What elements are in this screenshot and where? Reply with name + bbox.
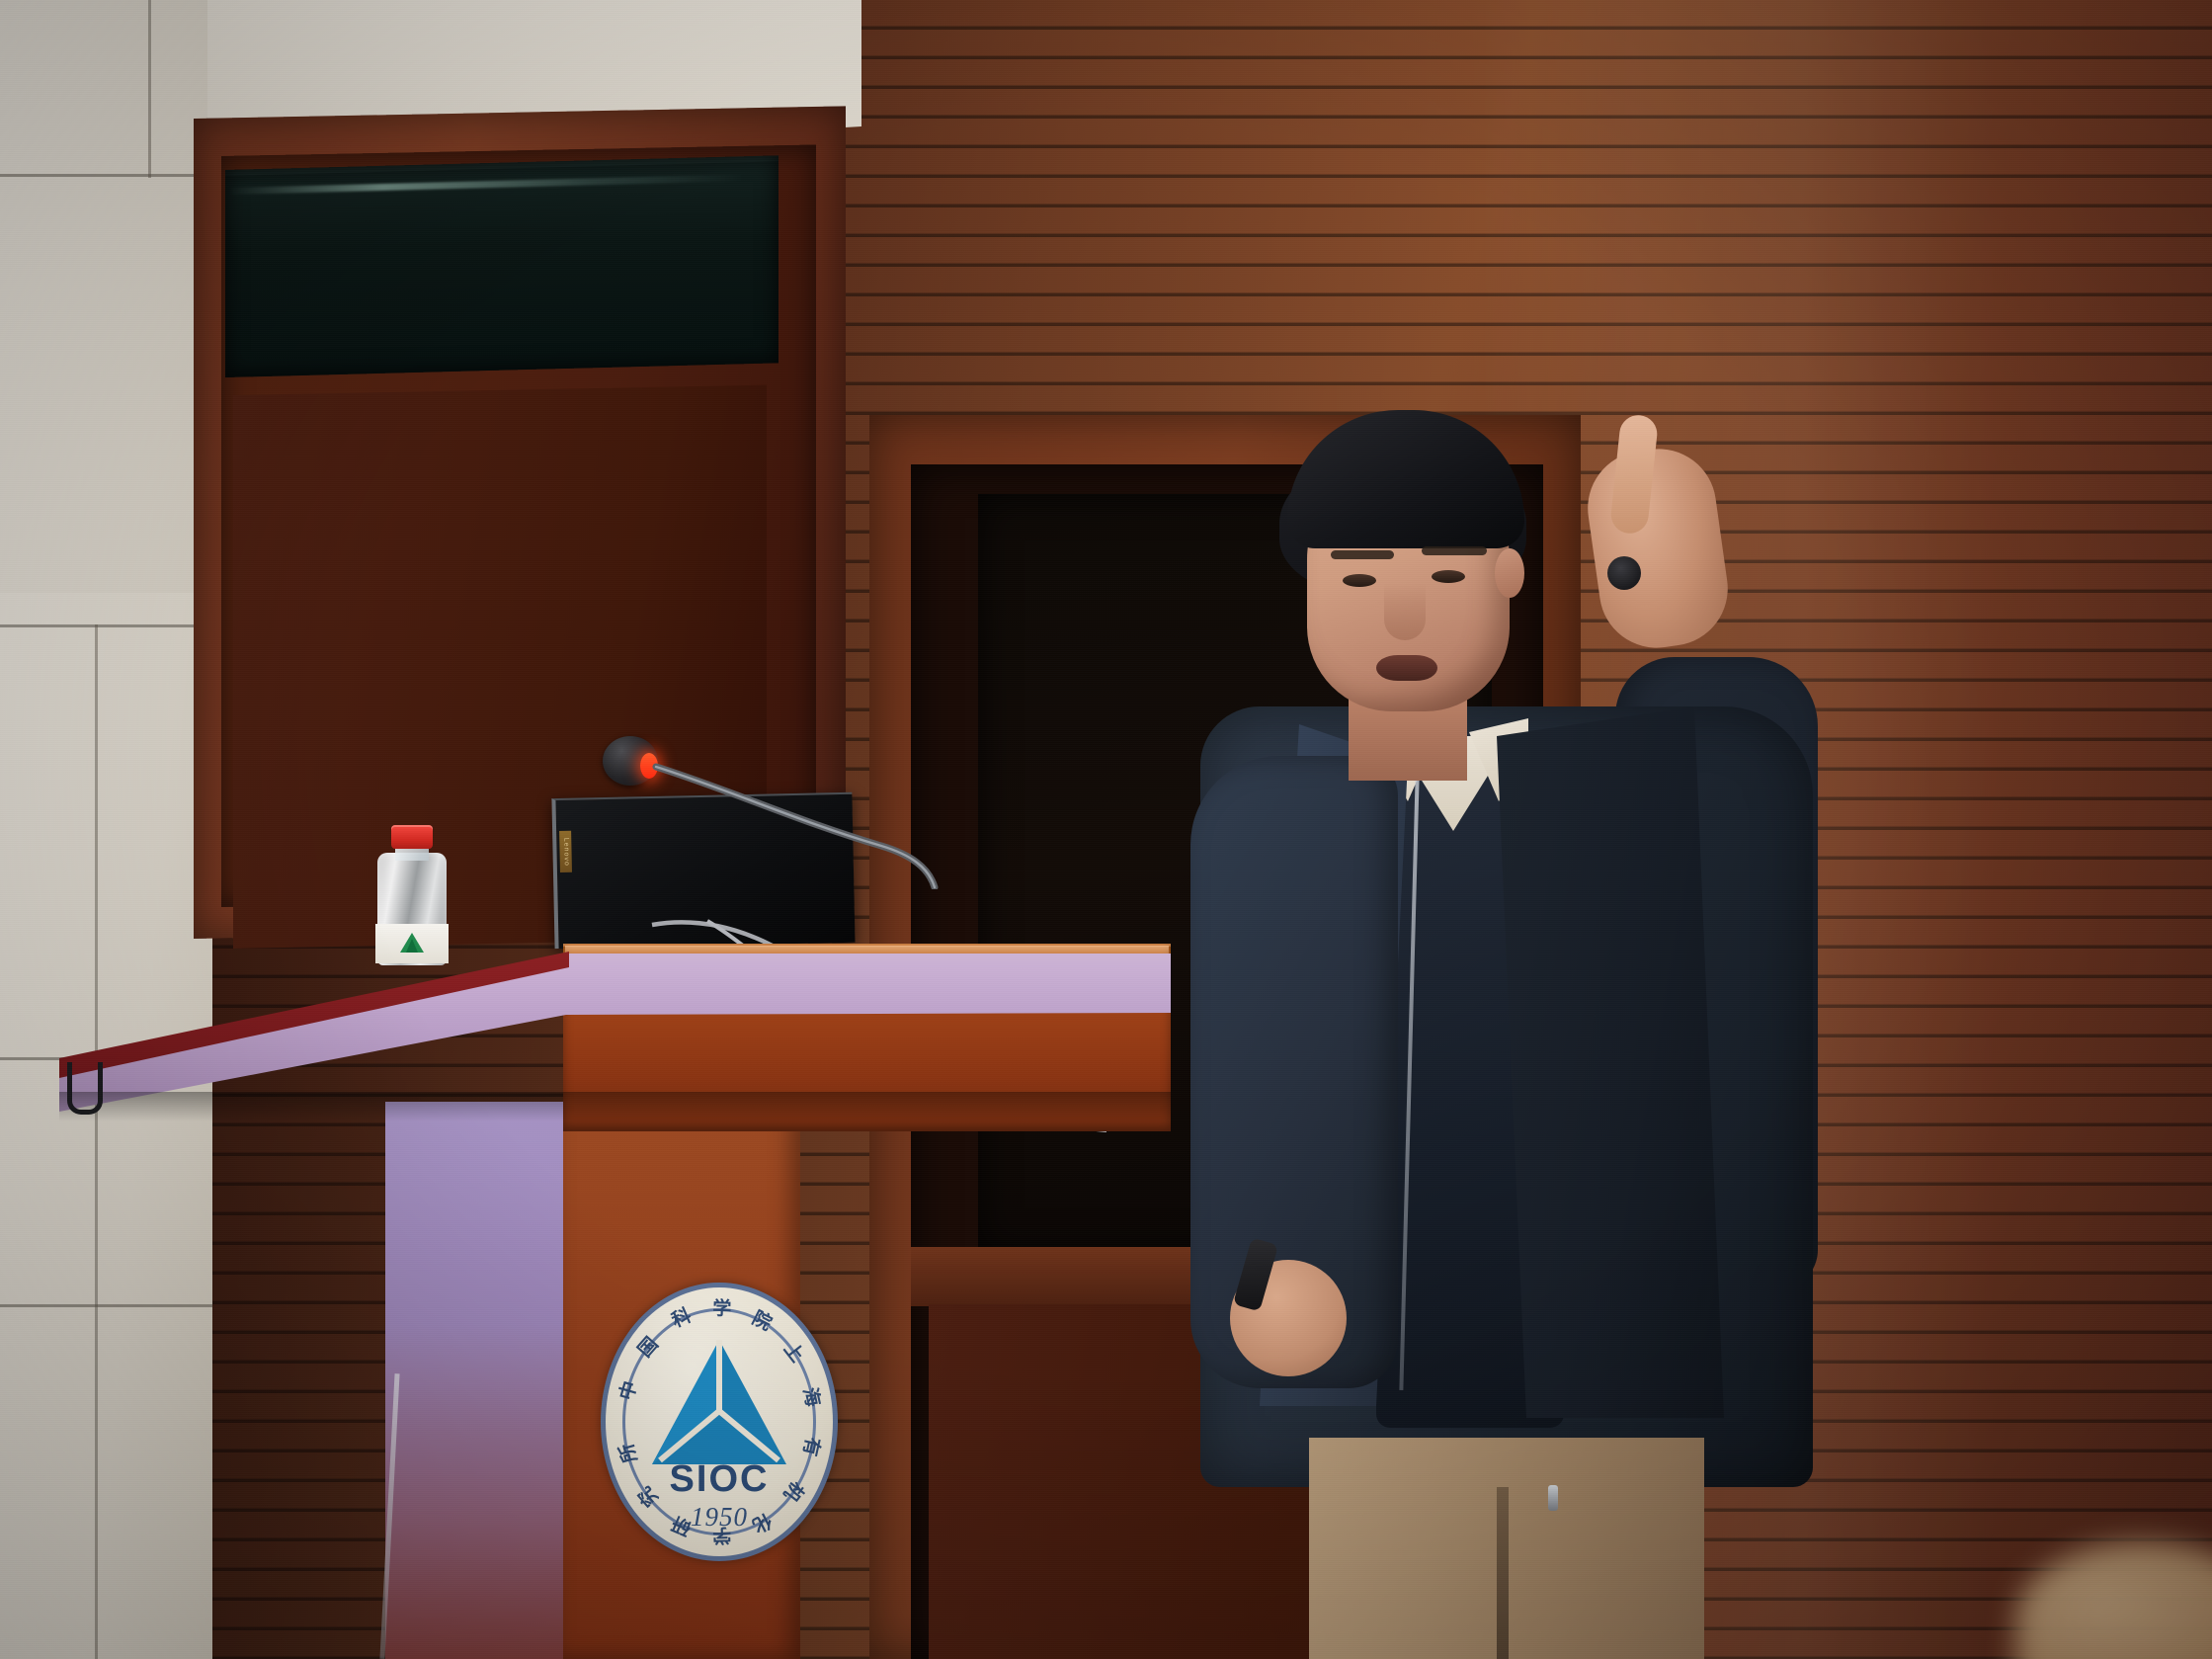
speaker-eye-left: [1343, 574, 1376, 587]
lecture-photo-scene: Lenovo SIOC 1950 中国科学院上海有机化学研究所: [0, 0, 2212, 1659]
presenter-remote-upper[interactable]: [1607, 556, 1641, 590]
bottle-cap[interactable]: [391, 825, 433, 849]
sioc-emblem: SIOC 1950 中国科学院上海有机化学研究所: [601, 1283, 838, 1561]
podium-shadow: [59, 1092, 1171, 1121]
speaker-mouth: [1376, 655, 1437, 681]
microphone-gooseneck: [652, 761, 948, 889]
speaker-ear: [1495, 548, 1524, 598]
grout-line: [0, 624, 212, 627]
speaker-nose: [1384, 583, 1426, 640]
grout-line: [148, 0, 151, 178]
speaker-jacket-lapel-right: [1497, 706, 1724, 1418]
laptop-brand-logo: Lenovo: [559, 831, 572, 872]
cable-hook-icon: [67, 1062, 103, 1115]
speaker-hair: [1287, 410, 1524, 548]
emblem-chinese-char: 学: [712, 1293, 732, 1321]
grout-line: [0, 174, 212, 177]
speaker-trouser-seam: [1497, 1487, 1509, 1659]
emblem-chinese-char: 学: [712, 1523, 732, 1550]
jacket-zipper-pull-icon: [1548, 1485, 1558, 1511]
podium-column-lavender-face: [385, 1102, 563, 1659]
speaker-eye-right: [1432, 570, 1465, 583]
speaker-eyebrow-right: [1422, 546, 1487, 555]
emblem-delta-icon: [646, 1338, 792, 1471]
speaker-person: [1200, 410, 1833, 1659]
speaker-raised-hand: [1581, 442, 1736, 655]
speaker-eyebrow-left: [1331, 550, 1394, 559]
